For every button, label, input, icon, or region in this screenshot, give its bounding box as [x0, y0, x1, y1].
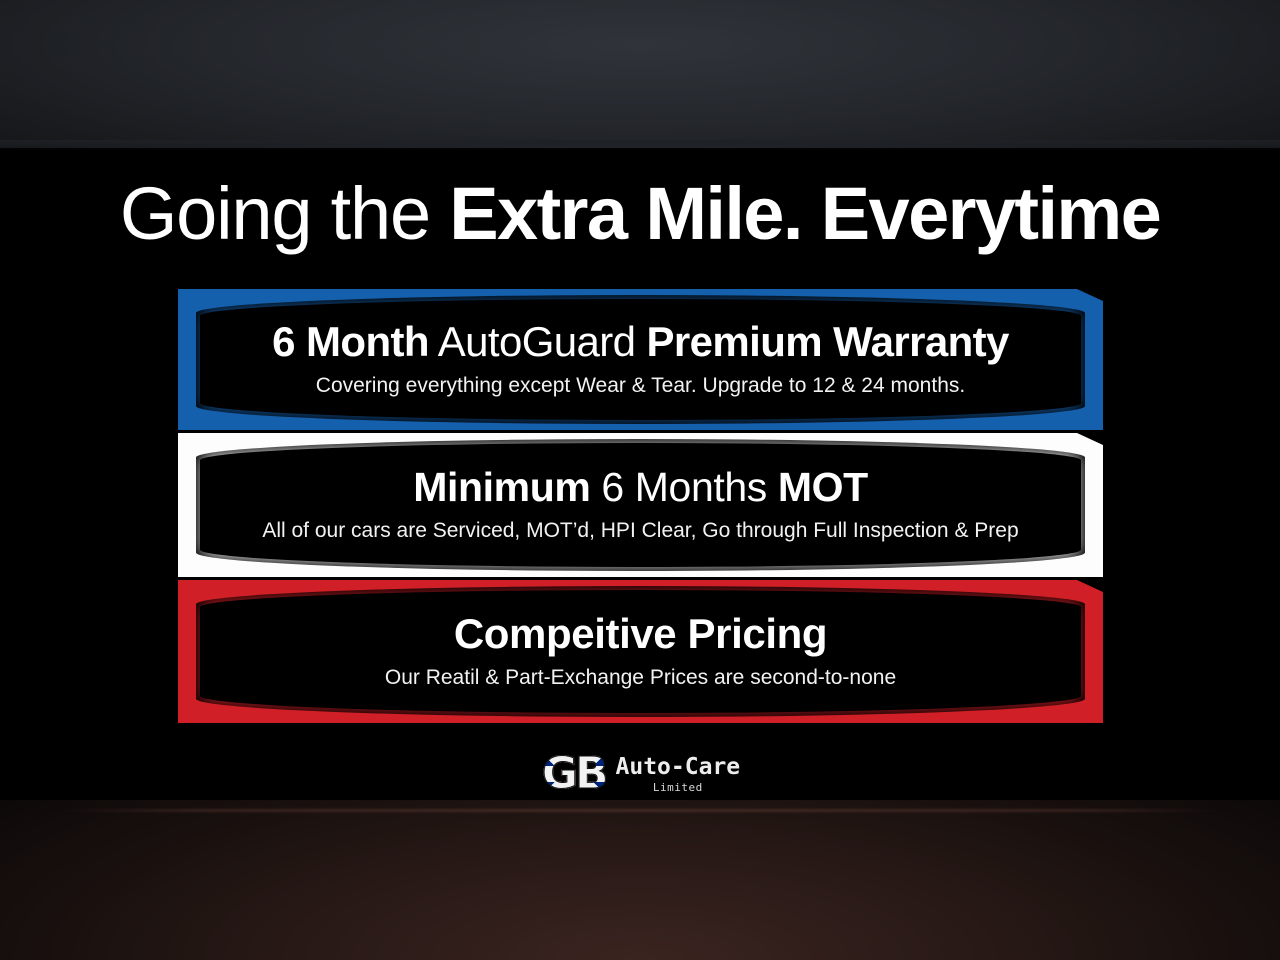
- banner-title-mid-mot: 6 Months: [590, 464, 777, 510]
- banner-title-tail-warranty: Premium Warranty: [647, 318, 1009, 365]
- promo-graphic: Going the Extra Mile. Everytime 6 Month …: [0, 0, 1280, 960]
- banner-content-pricing: Compeitive Pricing Our Reatil & Part-Exc…: [178, 580, 1103, 723]
- banner-title-lead-warranty: 6 Month: [272, 318, 429, 365]
- feature-banner-mot: Minimum 6 Months MOT All of our cars are…: [178, 433, 1103, 577]
- banner-content-warranty: 6 Month AutoGuard Premium Warranty Cover…: [178, 289, 1103, 430]
- page-title: Going the Extra Mile. Everytime: [0, 172, 1280, 256]
- headline-bold-text: Extra Mile. Everytime: [449, 172, 1160, 255]
- brand-name: Auto-Care: [616, 756, 741, 779]
- brand-lockup: Auto-Care Limited: [616, 756, 741, 793]
- banner-subtitle-pricing: Our Reatil & Part-Exchange Prices are se…: [385, 665, 896, 690]
- banner-title-lead-pricing: Compeitive Pricing: [454, 610, 827, 657]
- background-bottom-highlight: [60, 809, 1220, 812]
- banner-subtitle-warranty: Covering everything except Wear & Tear. …: [316, 373, 965, 398]
- banner-subtitle-mot: All of our cars are Serviced, MOT’d, HPI…: [262, 518, 1018, 543]
- banner-title-tail-mot: MOT: [778, 464, 868, 510]
- brand-suffix: Limited: [653, 782, 703, 793]
- feature-banner-pricing: Compeitive Pricing Our Reatil & Part-Exc…: [178, 580, 1103, 723]
- banner-title-pricing: Compeitive Pricing: [454, 612, 827, 656]
- feature-banner-warranty: 6 Month AutoGuard Premium Warranty Cover…: [178, 289, 1103, 430]
- background-bottom-glow: [0, 800, 1280, 960]
- background-top-glow: [0, 0, 1280, 148]
- banner-content-mot: Minimum 6 Months MOT All of our cars are…: [178, 433, 1103, 577]
- headline-light-text: Going the: [120, 172, 449, 255]
- union-jack-monogram-icon: GB: [540, 752, 608, 796]
- banner-title-mot: Minimum 6 Months MOT: [413, 466, 867, 509]
- company-logo: GB Auto-Care Limited: [0, 752, 1280, 796]
- banner-title-mid-warranty: AutoGuard: [429, 318, 647, 365]
- banner-title-lead-mot: Minimum: [413, 464, 590, 510]
- feature-banner-list: 6 Month AutoGuard Premium Warranty Cover…: [178, 289, 1103, 723]
- banner-title-warranty: 6 Month AutoGuard Premium Warranty: [272, 320, 1009, 364]
- background-top-edge: [0, 140, 1280, 150]
